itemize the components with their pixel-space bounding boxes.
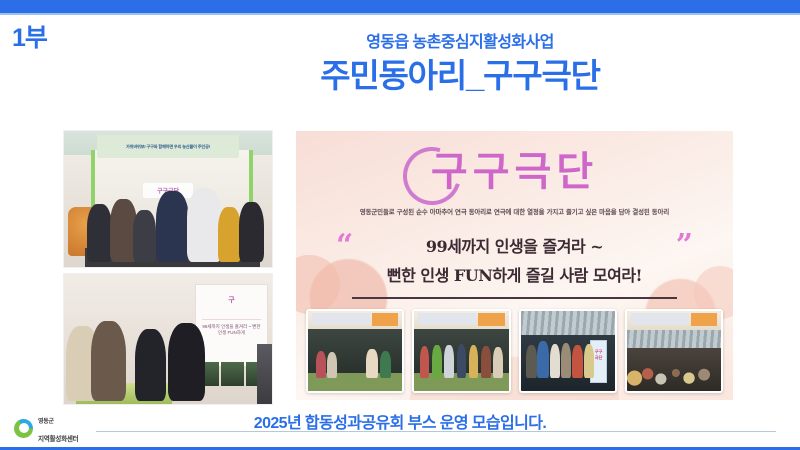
photo-person xyxy=(493,347,502,378)
photo-person xyxy=(133,210,156,262)
stage-banner xyxy=(308,311,402,330)
photo-person xyxy=(550,344,560,378)
photo-person xyxy=(239,202,264,262)
slogan-block: “ ” 99세까지 인생을 즐겨라 ~ 뻔한 인생 FUN하게 즐길 사람 모여… xyxy=(330,231,699,286)
audience-crowd xyxy=(627,348,721,391)
poster-photo-strip: 구구극단 xyxy=(306,309,723,395)
poster-photo-2 xyxy=(412,309,510,393)
poster-inset-text: 99세까지 인생을 즐겨라 ~ 뻔한 인생 FUN하게 xyxy=(200,324,262,337)
photo-person xyxy=(561,343,571,378)
slide-caption: 2025년 합동성과공유회 부스 운영 모습입니다. xyxy=(0,409,800,433)
stage-banner xyxy=(414,311,508,330)
slogan-line-1: 99세까지 인생을 즐겨라 ~ xyxy=(330,233,699,257)
organization-name-line2: 지역활성화센터 xyxy=(38,436,78,443)
camera-tripod xyxy=(257,344,272,404)
part-label: 1부 xyxy=(12,26,47,51)
slogan-line-2: 뻔한 인생 FUN하게 즐길 사람 모여라! xyxy=(330,262,699,286)
venue-ceiling xyxy=(627,330,721,348)
troupe-logo: 구구극단 xyxy=(296,143,733,201)
photo-scene: 가위바위보! 구구와 함께하면 우리 농산물이 주인공! 구구극단 xyxy=(64,131,272,267)
photo-person xyxy=(380,351,391,378)
photo-booth-wide: 가위바위보! 구구와 함께하면 우리 농산물이 주인공! 구구극단 xyxy=(64,131,272,267)
photo-person xyxy=(469,345,478,378)
troupe-name: 구구극단 xyxy=(431,152,598,192)
poster-photo-3: 구구극단 xyxy=(519,309,617,393)
photo-person xyxy=(156,191,189,262)
poster-photo-4 xyxy=(625,309,723,393)
photo-person xyxy=(444,345,453,378)
stage-banner xyxy=(627,311,721,330)
photo-person xyxy=(457,344,466,378)
photo-person xyxy=(481,346,490,378)
slogan-rule xyxy=(352,297,677,299)
photo-person xyxy=(91,321,126,402)
photo-person xyxy=(420,346,429,378)
poster-inset-rule xyxy=(202,319,261,320)
photo-person xyxy=(218,207,241,261)
troupe-poster: 구구극단 영동군민들로 구성된 순수 아마추어 연극 동아리로 연극에 대한 열… xyxy=(296,131,733,400)
photo-person xyxy=(366,349,377,378)
photo-scene: 구 99세까지 인생을 즐겨라 ~ 뻔한 인생 FUN하게 xyxy=(64,274,272,404)
photo-person xyxy=(526,345,536,379)
presentation-slide: 1부 영동읍 농촌중심지활성화사업 주민동아리_구구극단 가위바위보! 구구와 … xyxy=(0,0,800,450)
troupe-description: 영동군민들로 구성된 순수 아마추어 연극 동아리로 연극에 대한 열정을 가지… xyxy=(310,207,719,216)
photo-person xyxy=(327,352,337,378)
photo-person xyxy=(537,341,548,378)
photo-person xyxy=(572,345,582,379)
page-title: 주민동아리_구구극단 xyxy=(200,56,720,96)
booth-banner-text: 가위바위보! 구구와 함께하면 우리 농산물이 주인공! xyxy=(97,135,238,158)
troupe-banner-text: 구구극단 xyxy=(595,349,603,361)
photo-person xyxy=(316,351,326,378)
photo-person xyxy=(584,344,594,378)
poster-inset-logo: 구 xyxy=(228,295,234,305)
photo-person xyxy=(135,329,166,402)
top-accent-bar-thin xyxy=(0,13,800,15)
title-block: 영동읍 농촌중심지활성화사업 주민동아리_구구극단 xyxy=(200,34,720,95)
photo-person xyxy=(187,188,222,261)
photo-person xyxy=(432,345,441,379)
photo-booth-visitors: 구 99세까지 인생을 즐겨라 ~ 뻔한 인생 FUN하게 xyxy=(64,274,272,404)
slide-subtitle: 영동읍 농촌중심지활성화사업 xyxy=(200,34,720,52)
photo-person xyxy=(87,204,112,261)
quote-close-icon: ” xyxy=(676,235,693,256)
quote-open-icon: “ xyxy=(336,235,353,256)
poster-photo-1 xyxy=(306,309,404,393)
photo-person xyxy=(168,323,205,401)
top-accent-bar xyxy=(0,0,800,13)
